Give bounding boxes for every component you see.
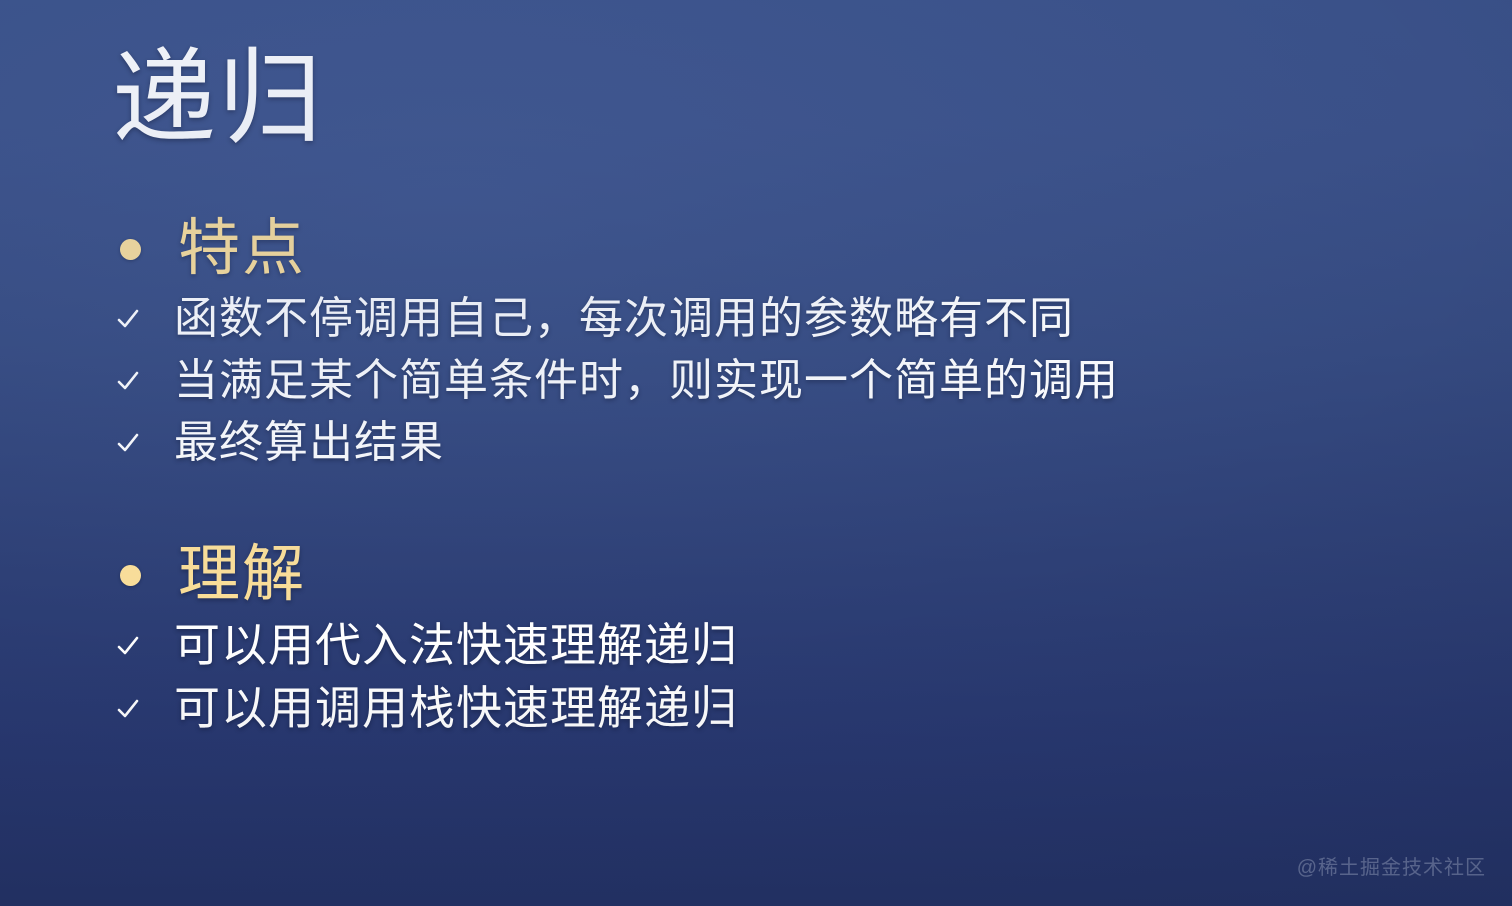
watermark-label: @稀土掘金技术社区 xyxy=(1297,851,1486,880)
filled-circle-bullet-icon xyxy=(120,239,141,260)
list-item: 可以用代入法快速理解递归 xyxy=(0,614,1512,677)
bullet-group-characteristics: 特点 函数不停调用自己，每次调用的参数略有不同 xyxy=(0,210,1512,474)
group-title-label: 特点 xyxy=(178,218,306,280)
filled-circle-bullet-icon xyxy=(120,565,141,586)
list-item: 可以用调用栈快速理解递归 xyxy=(0,677,1512,740)
list-item-label: 可以用代入法快速理解递归 xyxy=(174,620,738,672)
bullet-group-understanding: 理解 可以用代入法快速理解递归 xyxy=(0,536,1512,740)
list-item: 当满足某个简单条件时，则实现一个简单的调用 xyxy=(0,350,1512,412)
list-item-label: 最终算出结果 xyxy=(174,418,444,467)
page-title: 递归 xyxy=(112,38,324,161)
sub-list-characteristics: 函数不停调用自己，每次调用的参数略有不同 当满足某个简单条件时，则实现一个简单的… xyxy=(0,288,1512,474)
list-item: 最终算出结果 xyxy=(0,412,1512,474)
check-icon xyxy=(115,633,141,659)
check-icon xyxy=(115,306,141,332)
group-title-label: 理解 xyxy=(178,544,306,606)
check-icon xyxy=(115,696,141,722)
list-item-label: 可以用调用栈快速理解递归 xyxy=(174,683,738,735)
sub-list-understanding: 可以用代入法快速理解递归 可以用调用栈快速理解递归 xyxy=(0,614,1512,740)
list-item-label: 当满足某个简单条件时，则实现一个简单的调用 xyxy=(174,356,1119,405)
list-item: 函数不停调用自己，每次调用的参数略有不同 xyxy=(0,288,1512,350)
slide-content: 特点 函数不停调用自己，每次调用的参数略有不同 xyxy=(0,210,1512,740)
check-icon xyxy=(115,430,141,456)
group-heading-characteristics: 特点 xyxy=(0,210,1512,288)
presentation-slide: 递归 特点 函数不停调用自己，每次调用的参数略有不同 xyxy=(0,0,1512,906)
group-heading-understanding: 理解 xyxy=(0,536,1512,614)
list-item-label: 函数不停调用自己，每次调用的参数略有不同 xyxy=(174,294,1074,343)
check-icon xyxy=(115,368,141,394)
